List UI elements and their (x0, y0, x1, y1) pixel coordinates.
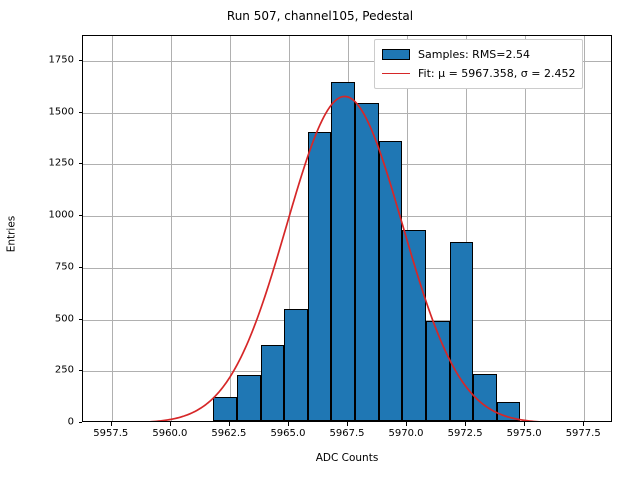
x-tick-label: 5977.5 (566, 428, 601, 439)
y-tick-mark (79, 163, 83, 164)
y-tick-label: 0 (0, 417, 74, 428)
y-tick-label: 1750 (0, 54, 74, 65)
x-tick-mark (347, 422, 348, 426)
legend-label-fit: Fit: μ = 5967.358, σ = 2.452 (418, 67, 575, 80)
x-tick-mark (288, 422, 289, 426)
x-tick-mark (229, 422, 230, 426)
x-tick-mark (524, 422, 525, 426)
legend-label-samples: Samples: RMS=2.54 (418, 48, 530, 61)
x-tick-label: 5965.0 (270, 428, 305, 439)
legend-entry-fit: Fit: μ = 5967.358, σ = 2.452 (382, 64, 575, 83)
x-tick-mark (111, 422, 112, 426)
y-tick-mark (79, 215, 83, 216)
y-tick-mark (79, 60, 83, 61)
x-tick-mark (465, 422, 466, 426)
y-tick-label: 1000 (0, 210, 74, 221)
x-tick-mark (170, 422, 171, 426)
x-tick-label: 5960.0 (152, 428, 187, 439)
y-axis-label: Entries (5, 216, 17, 253)
y-tick-mark (79, 422, 83, 423)
legend-entry-samples: Samples: RMS=2.54 (382, 45, 575, 64)
y-tick-label: 750 (0, 261, 74, 272)
x-tick-label: 5962.5 (211, 428, 246, 439)
legend-line-icon (382, 73, 410, 74)
y-tick-mark (79, 319, 83, 320)
plot-area (82, 35, 612, 422)
y-tick-label: 500 (0, 313, 74, 324)
y-tick-mark (79, 370, 83, 371)
y-tick-label: 1500 (0, 106, 74, 117)
fit-curve-path (114, 96, 556, 422)
x-tick-label: 5975.0 (507, 428, 542, 439)
legend-patch-icon (382, 49, 410, 60)
legend: Samples: RMS=2.54 Fit: μ = 5967.358, σ =… (374, 39, 583, 89)
x-tick-mark (406, 422, 407, 426)
chart-title: Run 507, channel105, Pedestal (0, 9, 640, 23)
x-axis-label: ADC Counts (82, 452, 612, 464)
x-tick-label: 5957.5 (93, 428, 128, 439)
x-tick-mark (583, 422, 584, 426)
y-tick-label: 1250 (0, 158, 74, 169)
y-tick-mark (79, 112, 83, 113)
x-tick-label: 5972.5 (448, 428, 483, 439)
x-tick-label: 5967.5 (330, 428, 365, 439)
figure: Run 507, channel105, Pedestal Entries AD… (0, 0, 640, 480)
y-tick-label: 250 (0, 365, 74, 376)
y-tick-mark (79, 267, 83, 268)
x-tick-label: 5970.0 (389, 428, 424, 439)
fit-curve (83, 36, 612, 422)
